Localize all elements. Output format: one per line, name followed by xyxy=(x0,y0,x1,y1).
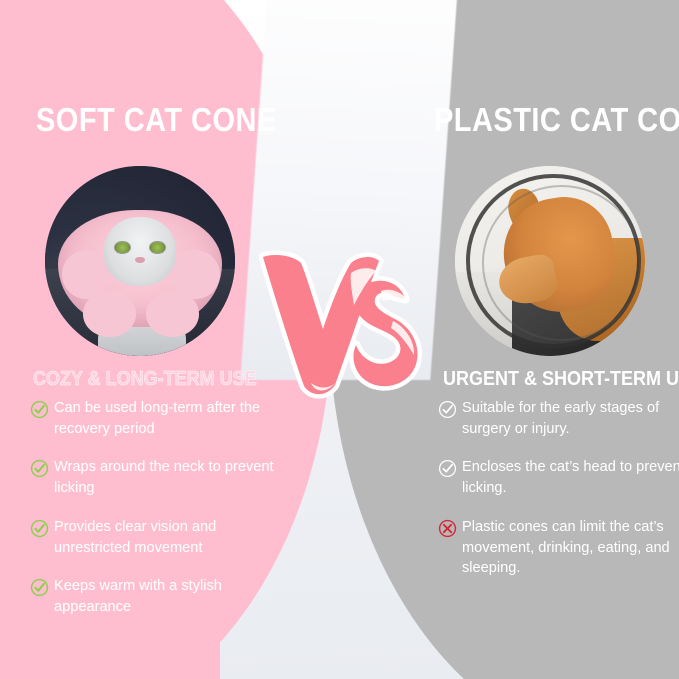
list-item: Keeps warm with a stylish appearance xyxy=(30,576,282,617)
left-cat-head xyxy=(104,217,176,285)
list-item: Encloses the cat’s head to prevent licki… xyxy=(438,457,679,498)
list-item-text: Can be used long-term after the recovery… xyxy=(54,398,282,439)
list-item-text: Encloses the cat’s head to prevent licki… xyxy=(462,457,679,498)
list-item: Provides clear vision and unrestricted m… xyxy=(30,517,282,558)
list-item-text: Suitable for the early stages of surgery… xyxy=(462,398,679,439)
check-circle-icon xyxy=(438,459,457,478)
list-item: Wraps around the neck to prevent licking xyxy=(30,457,282,498)
check-circle-icon xyxy=(30,519,49,538)
left-cat-photo xyxy=(45,166,235,356)
list-item: Can be used long-term after the recovery… xyxy=(30,398,282,439)
left-title: SOFT CAT CONE xyxy=(36,101,277,139)
check-circle-icon xyxy=(438,400,457,419)
right-feature-list: Suitable for the early stages of surgery… xyxy=(438,398,679,597)
collar-lobe-3 xyxy=(83,291,136,337)
right-subtitle: URGENT & SHORT-TERM USE xyxy=(443,368,679,391)
collar-lobe-4 xyxy=(146,291,199,337)
right-cat-photo xyxy=(455,166,645,356)
check-circle-icon xyxy=(30,400,49,419)
check-circle-icon xyxy=(30,459,49,478)
list-item-text: Plastic cones can limit the cat’s moveme… xyxy=(462,517,679,579)
list-item: Suitable for the early stages of surgery… xyxy=(438,398,679,439)
check-circle-icon xyxy=(30,578,49,597)
left-subtitle: COZY & LONG-TERM USE xyxy=(33,368,257,391)
left-cat-eye-left xyxy=(115,242,129,253)
comparison-infographic: SOFT CAT CONE COZY & LONG-TERM USE Can b… xyxy=(0,0,679,679)
right-title: PLASTIC CAT CONE xyxy=(434,101,679,139)
left-feature-list: Can be used long-term after the recovery… xyxy=(30,398,282,636)
vs-graphic xyxy=(255,243,425,408)
left-cat-eye-right xyxy=(150,242,164,253)
list-item-text: Wraps around the neck to prevent licking xyxy=(54,457,282,498)
list-item-text: Provides clear vision and unrestricted m… xyxy=(54,517,282,558)
list-item: Plastic cones can limit the cat’s moveme… xyxy=(438,517,679,579)
list-item-text: Keeps warm with a stylish appearance xyxy=(54,576,282,617)
cross-circle-icon xyxy=(438,519,457,538)
plastic-cone-inner-ring xyxy=(482,185,642,341)
